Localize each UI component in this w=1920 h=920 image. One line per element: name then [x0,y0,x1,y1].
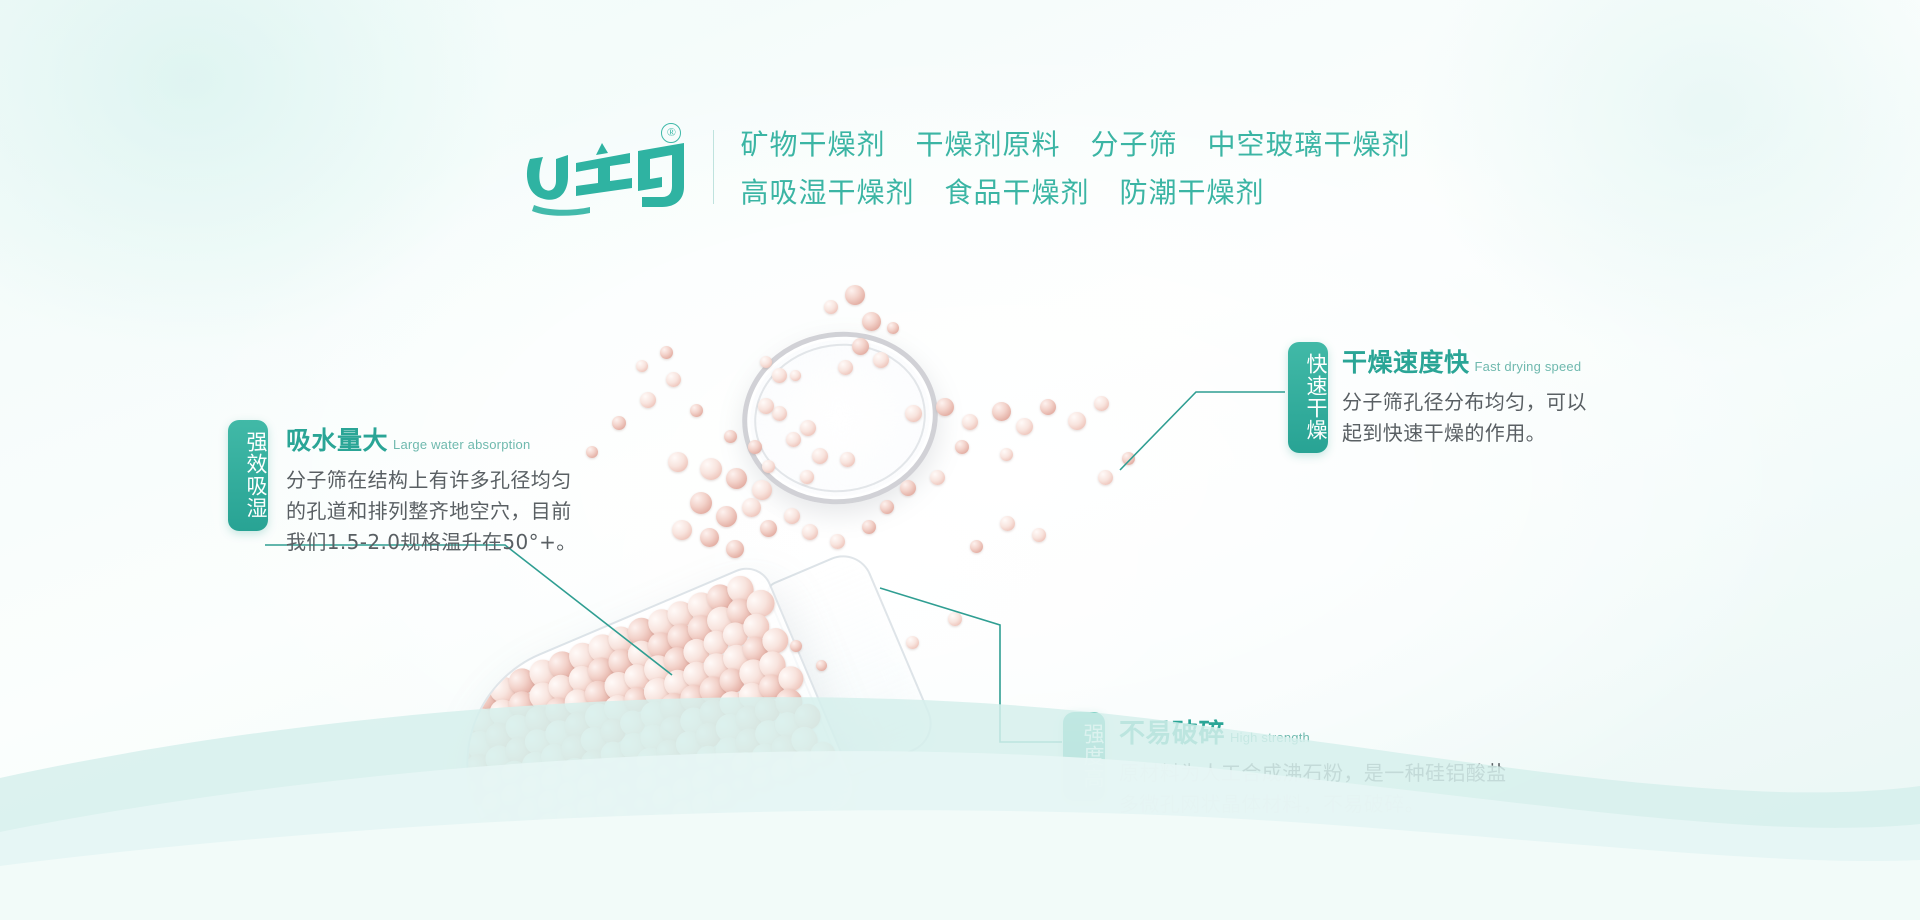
bead [962,414,978,430]
bead [790,640,802,652]
bead [1122,452,1135,465]
bead [936,398,954,416]
bead [726,540,744,558]
bead [586,446,598,458]
bead [690,404,703,417]
bead [760,356,772,368]
nav-item-high-absorption[interactable]: 高吸湿干燥剂 [740,171,914,211]
bead [758,398,774,414]
bead [862,312,881,331]
bead [930,470,945,485]
bead [668,452,688,472]
bead [838,360,853,375]
bead [748,440,762,454]
bead [830,534,845,549]
header-nav: 矿物干燥剂 干燥剂原料 分子筛 中空玻璃干燥剂 高吸湿干燥剂 食品干燥剂 防潮干… [740,123,1410,211]
bead [880,500,894,514]
bead [772,406,787,421]
bead [660,346,673,359]
header-divider [713,130,714,204]
nav-item-molecular-sieve[interactable]: 分子筛 [1091,123,1178,163]
bead [992,402,1011,421]
bead [752,480,772,500]
callout-title-en: Fast drying speed [1475,359,1582,374]
nav-item-moisture-proof[interactable]: 防潮干燥剂 [1120,171,1265,211]
nav-item-insulating-glass[interactable]: 中空玻璃干燥剂 [1208,123,1411,163]
bead [1068,412,1086,430]
bead [1040,399,1056,415]
bead [800,470,814,484]
bead [640,392,656,408]
callout-title-cn: 干燥速度快 [1342,343,1470,379]
callout-title-en: Large water absorption [393,437,530,452]
bead [824,300,838,314]
yaao-logo-icon [518,137,690,217]
bead [852,338,869,355]
nav-item-desiccant-raw[interactable]: 干燥剂原料 [915,123,1060,163]
bead [690,492,712,514]
bead [636,360,648,372]
nav-item-mineral-desiccant[interactable]: 矿物干燥剂 [740,123,885,163]
decorative-waves [0,660,1920,920]
nav-row-1: 矿物干燥剂 干燥剂原料 分子筛 中空玻璃干燥剂 [740,123,1410,163]
bead [790,370,801,381]
bead [1000,516,1015,531]
bead [887,322,899,334]
bead [672,520,692,540]
bead [700,528,719,547]
badge-fast-drying: 快速干燥 [1288,342,1328,453]
callout-large-water-absorption: 强效吸湿 吸水量大 Large water absorption 分子筛在结构上… [228,420,577,559]
bead [900,480,916,496]
bead [1016,418,1033,435]
bead [724,430,737,443]
bead [955,440,969,454]
callout-desc-line: 我们1.5-2.0规格温升在50°+。 [286,527,577,558]
bead [802,524,818,540]
brand-logo[interactable]: ® [509,117,699,217]
bead [862,520,876,534]
callout-desc-line: 分子筛在结构上有许多孔径均匀 [286,465,577,496]
bead [905,405,922,422]
nav-item-food-desiccant[interactable]: 食品干燥剂 [944,171,1089,211]
bead [700,458,722,480]
bead [786,432,801,447]
bead [840,452,855,467]
callout-desc-line: 的孔道和排列整齐地空穴，目前 [286,496,577,527]
bead [1098,470,1113,485]
bead [1094,396,1109,411]
callout-desc-line: 起到快速干燥的作用。 [1342,418,1587,449]
bead [873,352,889,368]
bead [812,448,828,464]
bead [845,285,865,305]
callout-fast-drying-speed: 快速干燥 干燥速度快 Fast drying speed 分子筛孔径分布均匀，可… [1288,342,1587,453]
callout-title-cn: 吸水量大 [286,421,388,457]
banner-stage: ® 矿物干燥剂 干燥剂原料 分子筛 中空玻璃干燥剂 高吸湿干燥剂 食品干燥剂 防… [0,0,1920,920]
bead [948,612,962,626]
bead [760,520,777,537]
bead [784,508,800,524]
nav-row-2: 高吸湿干燥剂 食品干燥剂 防潮干燥剂 [740,171,1410,211]
bead [666,372,681,387]
bead [716,506,737,527]
callout-desc-line: 分子筛孔径分布均匀，可以 [1342,387,1587,418]
bead [970,540,983,553]
badge-strong-absorption: 强效吸湿 [228,420,268,531]
callout-description: 分子筛孔径分布均匀，可以 起到快速干燥的作用。 [1342,387,1587,449]
bead [762,460,775,473]
bead [1000,448,1013,461]
bead [772,368,787,383]
bead [906,636,919,649]
callout-description: 分子筛在结构上有许多孔径均匀 的孔道和排列整齐地空穴，目前 我们1.5-2.0规… [286,465,577,559]
bead [726,468,747,489]
site-header: ® 矿物干燥剂 干燥剂原料 分子筛 中空玻璃干燥剂 高吸湿干燥剂 食品干燥剂 防… [0,112,1920,222]
bead [742,498,761,517]
bead [800,420,816,436]
bead [612,416,626,430]
bead [1032,528,1046,542]
